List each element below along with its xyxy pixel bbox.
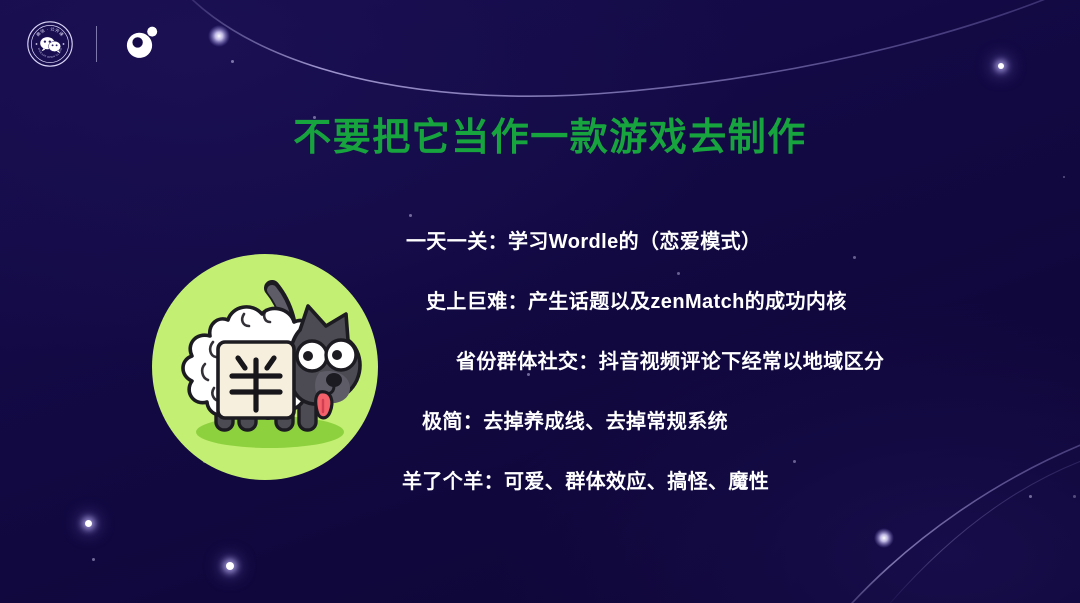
arc-node-top (208, 25, 230, 47)
bullet-list: 一天一关：学习Wordle的（恋爱模式） 史上巨难：产生话题以及zenMatch… (400, 212, 1020, 512)
presentation-slide: 微信 · 公开课 WECHAT OPEN CLASS 不要把它当作一款游戏去制作 (0, 0, 1080, 603)
arc-node-bottom (874, 528, 894, 548)
bullet-line: 史上巨难：产生话题以及zenMatch的成功内核 (400, 272, 1020, 332)
sheep-mascot-illustration (150, 252, 380, 482)
product-mark-logo-icon (119, 22, 163, 66)
bullet-line: 羊了个羊：可爱、群体效应、搞怪、魔性 (400, 452, 1020, 512)
bullet-line: 极简：去掉养成线、去掉常规系统 (400, 392, 1020, 452)
bullet-line: 省份群体社交：抖音视频评论下经常以地域区分 (400, 332, 1020, 392)
header-divider (96, 26, 97, 62)
wechat-open-class-badge-icon: 微信 · 公开课 WECHAT OPEN CLASS (26, 20, 74, 68)
page-title: 不要把它当作一款游戏去制作 (0, 115, 1080, 163)
slide-header: 微信 · 公开课 WECHAT OPEN CLASS (26, 20, 163, 68)
svg-text:微信 · 公开课: 微信 · 公开课 (35, 26, 66, 37)
arc-top (150, 0, 1080, 96)
bullet-line: 一天一关：学习Wordle的（恋爱模式） (400, 212, 1020, 272)
